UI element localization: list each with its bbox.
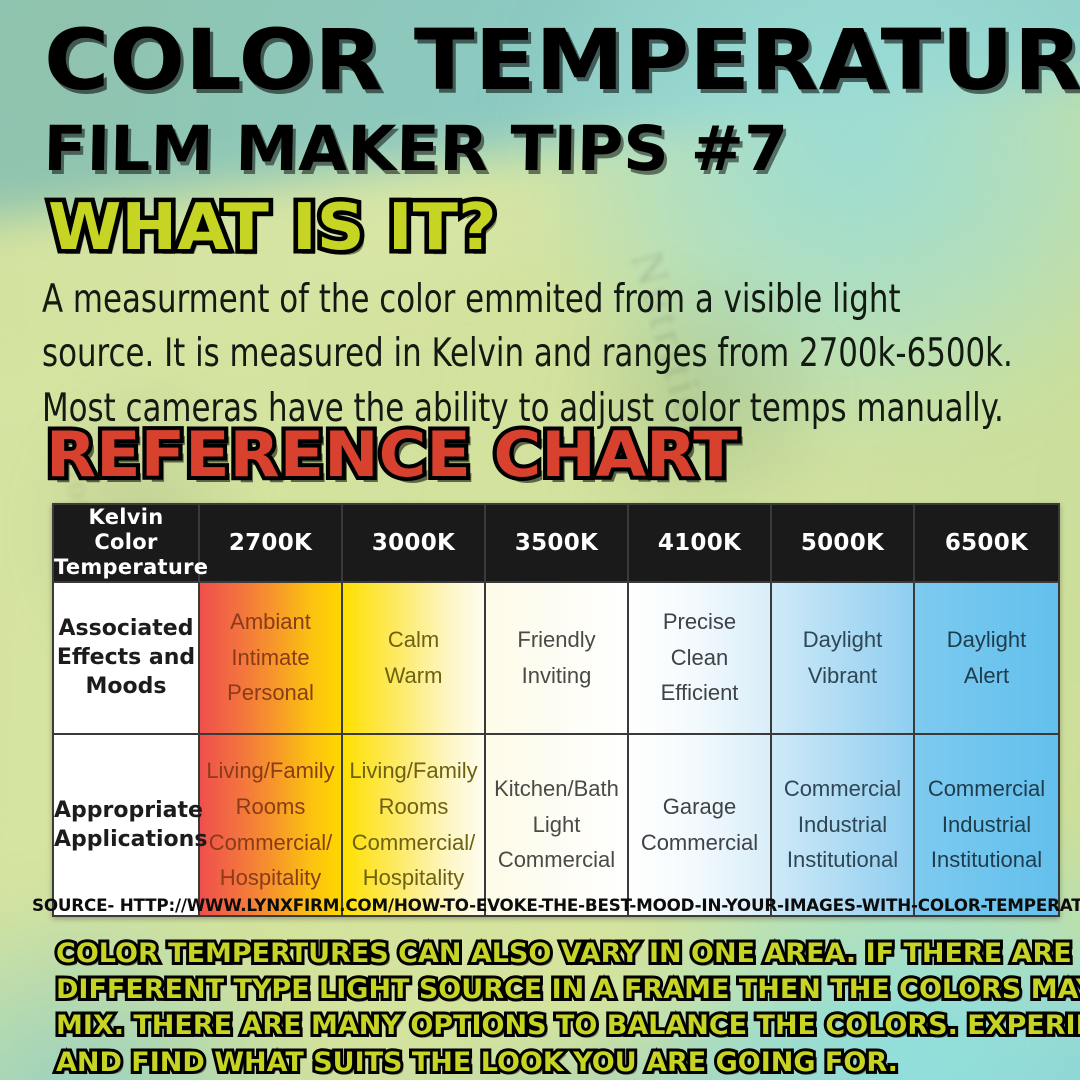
- cell-line: Commercial: [629, 825, 770, 861]
- cell-line: Garage: [629, 789, 770, 825]
- cell-line: Commercial: [772, 771, 913, 807]
- cell-applications-3000k: Living/Family Rooms Commercial/ Hospital…: [342, 734, 485, 916]
- row-label-line-2: Effects and: [54, 643, 198, 672]
- cell-moods-4100k: Precise Clean Efficient: [628, 582, 771, 734]
- cell-line: Commercial: [486, 842, 627, 878]
- row-label-line-2: Applications: [54, 825, 198, 854]
- body-text-line-1: A measurment of the color emmited from a…: [42, 272, 922, 327]
- cell-line: Friendly: [486, 622, 627, 658]
- source-attribution: SOURCE- HTTP://WWW.LYNXFIRM.COM/HOW-TO-E…: [32, 896, 1080, 916]
- row-label-appropriate-applications: Appropriate Applications: [53, 734, 199, 916]
- section-heading-reference-chart: REFERENCE CHART: [46, 424, 738, 486]
- table-corner-header: Kelvin Color Temperature: [53, 504, 199, 582]
- body-text-line-2: source. It is measured in Kelvin and ran…: [42, 326, 922, 381]
- column-header-3500k: 3500K: [485, 504, 628, 582]
- row-label-line-3: Moods: [54, 672, 198, 701]
- cell-line: Personal: [200, 675, 341, 711]
- column-header-2700k: 2700K: [199, 504, 342, 582]
- cell-moods-6500k: Daylight Alert: [914, 582, 1059, 734]
- row-label-line-1: Associated: [54, 614, 198, 643]
- cell-line: Precise: [629, 604, 770, 640]
- section-heading-what-is-it: WHAT IS IT?: [48, 196, 497, 260]
- cell-line: Alert: [915, 658, 1058, 694]
- cell-line: Industrial: [772, 807, 913, 843]
- cell-line: Commercial: [915, 771, 1058, 807]
- poster-content: COLOR TEMPERATURE FILM MAKER TIPS #7 WHA…: [0, 0, 1080, 1080]
- cell-applications-2700k: Living/Family Rooms Commercial/ Hospital…: [199, 734, 342, 916]
- row-label-line-1: Appropriate: [54, 796, 198, 825]
- cell-line: Living/Family: [200, 753, 341, 789]
- cell-line: Industrial: [915, 807, 1058, 843]
- poster-canvas: Nutrition Calories COLOR TEMPERATURE FIL…: [0, 0, 1080, 1080]
- cell-applications-5000k: Commercial Industrial Institutional: [771, 734, 914, 916]
- cell-applications-6500k: Commercial Industrial Institutional: [914, 734, 1059, 916]
- cell-line: Commercial/: [343, 825, 484, 861]
- cell-line: Calm: [343, 622, 484, 658]
- table-header-row: Kelvin Color Temperature 2700K 3000K 350…: [53, 504, 1059, 582]
- footer-note: COLOR TEMPERTURES CAN ALSO VARY IN ONE A…: [56, 936, 1066, 1080]
- cell-line: Rooms: [200, 789, 341, 825]
- cell-line: Kitchen/Bath: [486, 771, 627, 807]
- table-row: Associated Effects and Moods Ambiant Int…: [53, 582, 1059, 734]
- row-label-associated-effects: Associated Effects and Moods: [53, 582, 199, 734]
- cell-moods-5000k: Daylight Vibrant: [771, 582, 914, 734]
- cell-line: Institutional: [772, 842, 913, 878]
- column-header-5000k: 5000K: [771, 504, 914, 582]
- cell-moods-3500k: Friendly Inviting: [485, 582, 628, 734]
- cell-line: Warm: [343, 658, 484, 694]
- cell-applications-4100k: Garage Commercial: [628, 734, 771, 916]
- footer-note-line-4: AND FIND WHAT SUITS THE LOOK YOU ARE GOI…: [56, 1045, 1066, 1080]
- cell-line: Clean: [629, 640, 770, 676]
- corner-label-line-1: Kelvin Color: [54, 505, 198, 555]
- cell-moods-3000k: Calm Warm: [342, 582, 485, 734]
- color-temperature-reference-table: Kelvin Color Temperature 2700K 3000K 350…: [52, 503, 1060, 917]
- column-header-6500k: 6500K: [914, 504, 1059, 582]
- column-header-3000k: 3000K: [342, 504, 485, 582]
- cell-line: Light: [486, 807, 627, 843]
- cell-applications-3500k: Kitchen/Bath Light Commercial: [485, 734, 628, 916]
- cell-line: Vibrant: [772, 658, 913, 694]
- cell-line: Intimate: [200, 640, 341, 676]
- cell-line: Ambiant: [200, 604, 341, 640]
- cell-line: Hospitality: [200, 860, 341, 896]
- page-title: COLOR TEMPERATURE: [44, 18, 1080, 102]
- cell-moods-2700k: Ambiant Intimate Personal: [199, 582, 342, 734]
- cell-line: Inviting: [486, 658, 627, 694]
- cell-line: Institutional: [915, 842, 1058, 878]
- footer-note-line-1: COLOR TEMPERTURES CAN ALSO VARY IN ONE A…: [56, 936, 1066, 972]
- footer-note-line-3: MIX. THERE ARE MANY OPTIONS TO BALANCE T…: [56, 1008, 1066, 1044]
- footer-note-line-2: DIFFERENT TYPE LIGHT SOURCE IN A FRAME T…: [56, 972, 1066, 1008]
- cell-line: Daylight: [772, 622, 913, 658]
- cell-line: Daylight: [915, 622, 1058, 658]
- table-row: Appropriate Applications Living/Family R…: [53, 734, 1059, 916]
- cell-line: Efficient: [629, 675, 770, 711]
- cell-line: Rooms: [343, 789, 484, 825]
- cell-line: Hospitality: [343, 860, 484, 896]
- cell-line: Commercial/: [200, 825, 341, 861]
- corner-label-line-2: Temperature: [54, 555, 198, 580]
- page-subtitle: FILM MAKER TIPS #7: [43, 118, 788, 180]
- column-header-4100k: 4100K: [628, 504, 771, 582]
- cell-line: Living/Family: [343, 753, 484, 789]
